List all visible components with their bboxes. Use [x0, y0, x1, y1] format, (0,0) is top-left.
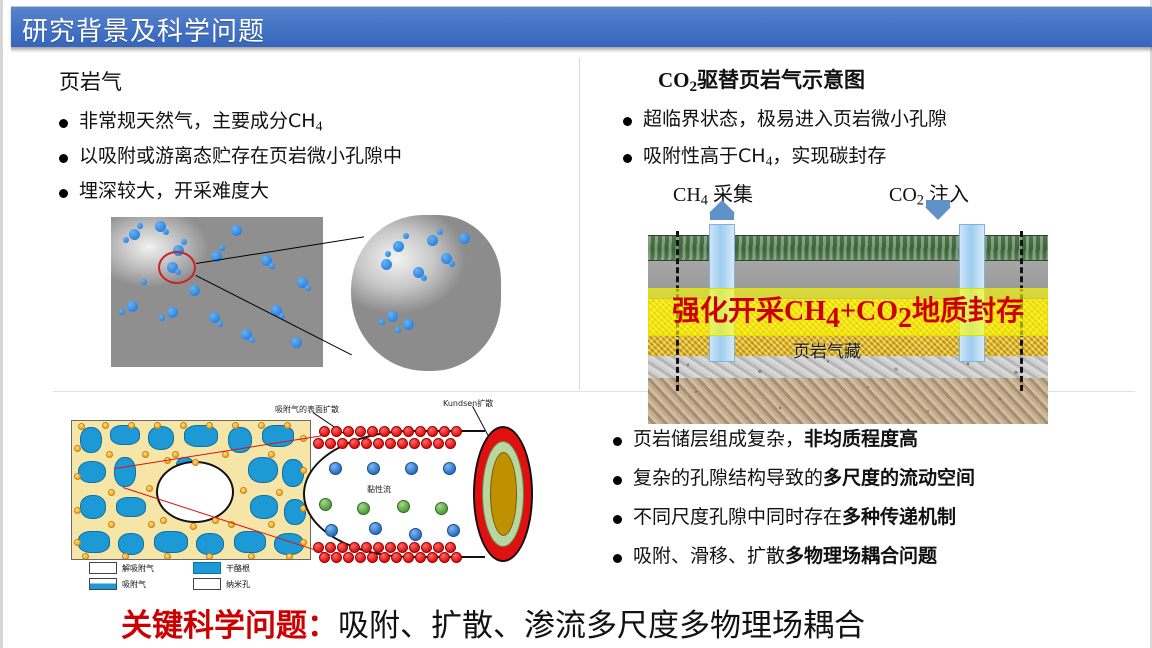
bullet-text: 吸附、滑移、扩散多物理场耦合问题	[633, 545, 937, 569]
reservoir-label: 页岩气藏	[793, 337, 861, 362]
legend-item: 干酪根	[193, 562, 250, 574]
legend-item: 解吸附气	[89, 562, 154, 574]
tube-body: 黏性流	[303, 430, 485, 558]
list-item: 埋深较大，开采难度大	[59, 180, 269, 204]
bullet-dot-icon	[59, 119, 68, 128]
key-question-text: 吸附、扩散、渗流多尺度多物理场耦合	[338, 608, 865, 644]
bullet-dot-icon	[623, 117, 632, 126]
list-item: 吸附、滑移、扩散多物理场耦合问题	[613, 545, 937, 569]
bullet-text: 复杂的孔隙结构导致的多尺度的流动空间	[633, 467, 975, 491]
list-item: 不同尺度孔隙中同时存在多种传递机制	[613, 506, 956, 530]
bullet-text: 超临界状态，极易进入页岩微小孔隙	[643, 108, 947, 132]
enhanced-recovery-banner: 强化开采CH4+CO2地质封存	[648, 288, 1048, 336]
kerogen-pore-surface-image	[111, 217, 323, 367]
bullet-text: 页岩储层组成复杂，非均质程度高	[633, 428, 918, 452]
bullet-dot-icon	[613, 437, 622, 446]
ch4-production-arrow-icon	[709, 200, 735, 213]
tube-cross-section-cap	[473, 426, 533, 562]
key-question-label: 关键科学问题：	[121, 608, 338, 644]
nanopore-tube-schematic: 黏性流	[303, 418, 533, 568]
shale-pore-network-figure	[71, 420, 311, 560]
vertical-divider	[579, 58, 580, 390]
zoom-region-highlight-icon	[158, 251, 196, 284]
zoomed-pore-image	[351, 215, 501, 371]
layer-surface-vegetation	[648, 235, 1048, 261]
legend-swatch-adsorbed-gas	[89, 578, 117, 590]
legend-swatch-nanopore	[193, 578, 221, 590]
left-panel-heading: 页岩气	[59, 66, 122, 96]
title-shadow	[11, 47, 1152, 53]
legend-label: 解吸附气	[122, 563, 154, 574]
legend-label: 干酪根	[226, 563, 250, 574]
list-item: 复杂的孔隙结构导致的多尺度的流动空间	[613, 467, 975, 491]
bullet-text: 吸附性高于CH4，实现碳封存	[643, 145, 886, 170]
annotation-viscous-flow: 黏性流	[367, 484, 391, 495]
slide-title-bar: 研究背景及科学问题	[11, 6, 1152, 47]
bullet-text: 埋深较大，开采难度大	[79, 180, 269, 204]
legend-swatch-kerogen	[193, 562, 221, 574]
legend-label: 吸附气	[122, 579, 146, 590]
bullet-dot-icon	[623, 154, 632, 163]
banner-text: 强化开采CH4+CO2地质封存	[672, 289, 1024, 335]
list-item: 非常规天然气，主要成分CH4	[59, 110, 322, 135]
list-item: 超临界状态，极易进入页岩微小孔隙	[623, 108, 947, 132]
nanopore-outline	[156, 461, 234, 523]
legend-swatch-desorbed-gas	[89, 562, 117, 574]
legend-item: 纳米孔	[193, 578, 250, 590]
bullet-dot-icon	[59, 189, 68, 198]
bullet-dot-icon	[59, 154, 68, 163]
annotation-surface-diffusion: 吸附气的表面扩散	[275, 404, 339, 415]
page-title: 研究背景及科学问题	[22, 11, 265, 48]
bullet-dot-icon	[613, 554, 622, 563]
bullet-dot-icon	[613, 515, 622, 524]
bullet-text: 不同尺度孔隙中同时存在多种传递机制	[633, 506, 956, 530]
shale-molecular-figure	[111, 215, 501, 383]
layer-basement-sandstone	[648, 378, 1048, 424]
legend-item: 吸附气	[89, 578, 146, 590]
key-question-line: 关键科学问题：吸附、扩散、渗流多尺度多物理场耦合	[121, 600, 865, 645]
right-panel-heading: CO2驱替页岩气示意图	[658, 64, 865, 96]
bullet-dot-icon	[613, 476, 622, 485]
co2-injection-arrow-stem	[926, 200, 950, 207]
bullet-text: 以吸附或游离态贮存在页岩微小孔隙中	[79, 145, 402, 169]
list-item: 吸附性高于CH4，实现碳封存	[623, 145, 886, 170]
slide-canvas: 研究背景及科学问题 页岩气 非常规天然气，主要成分CH4 以吸附或游离态贮存在页…	[0, 0, 1152, 648]
annotation-knudsen-diffusion: Kundsen扩散	[443, 398, 493, 409]
list-item: 页岩储层组成复杂，非均质程度高	[613, 428, 918, 452]
pore-figure-legend: 解吸附气 干酪根 吸附气 纳米孔	[71, 562, 311, 592]
legend-label: 纳米孔	[226, 579, 250, 590]
list-item: 以吸附或游离态贮存在页岩微小孔隙中	[59, 145, 402, 169]
bullet-text: 非常规天然气，主要成分CH4	[79, 110, 322, 135]
